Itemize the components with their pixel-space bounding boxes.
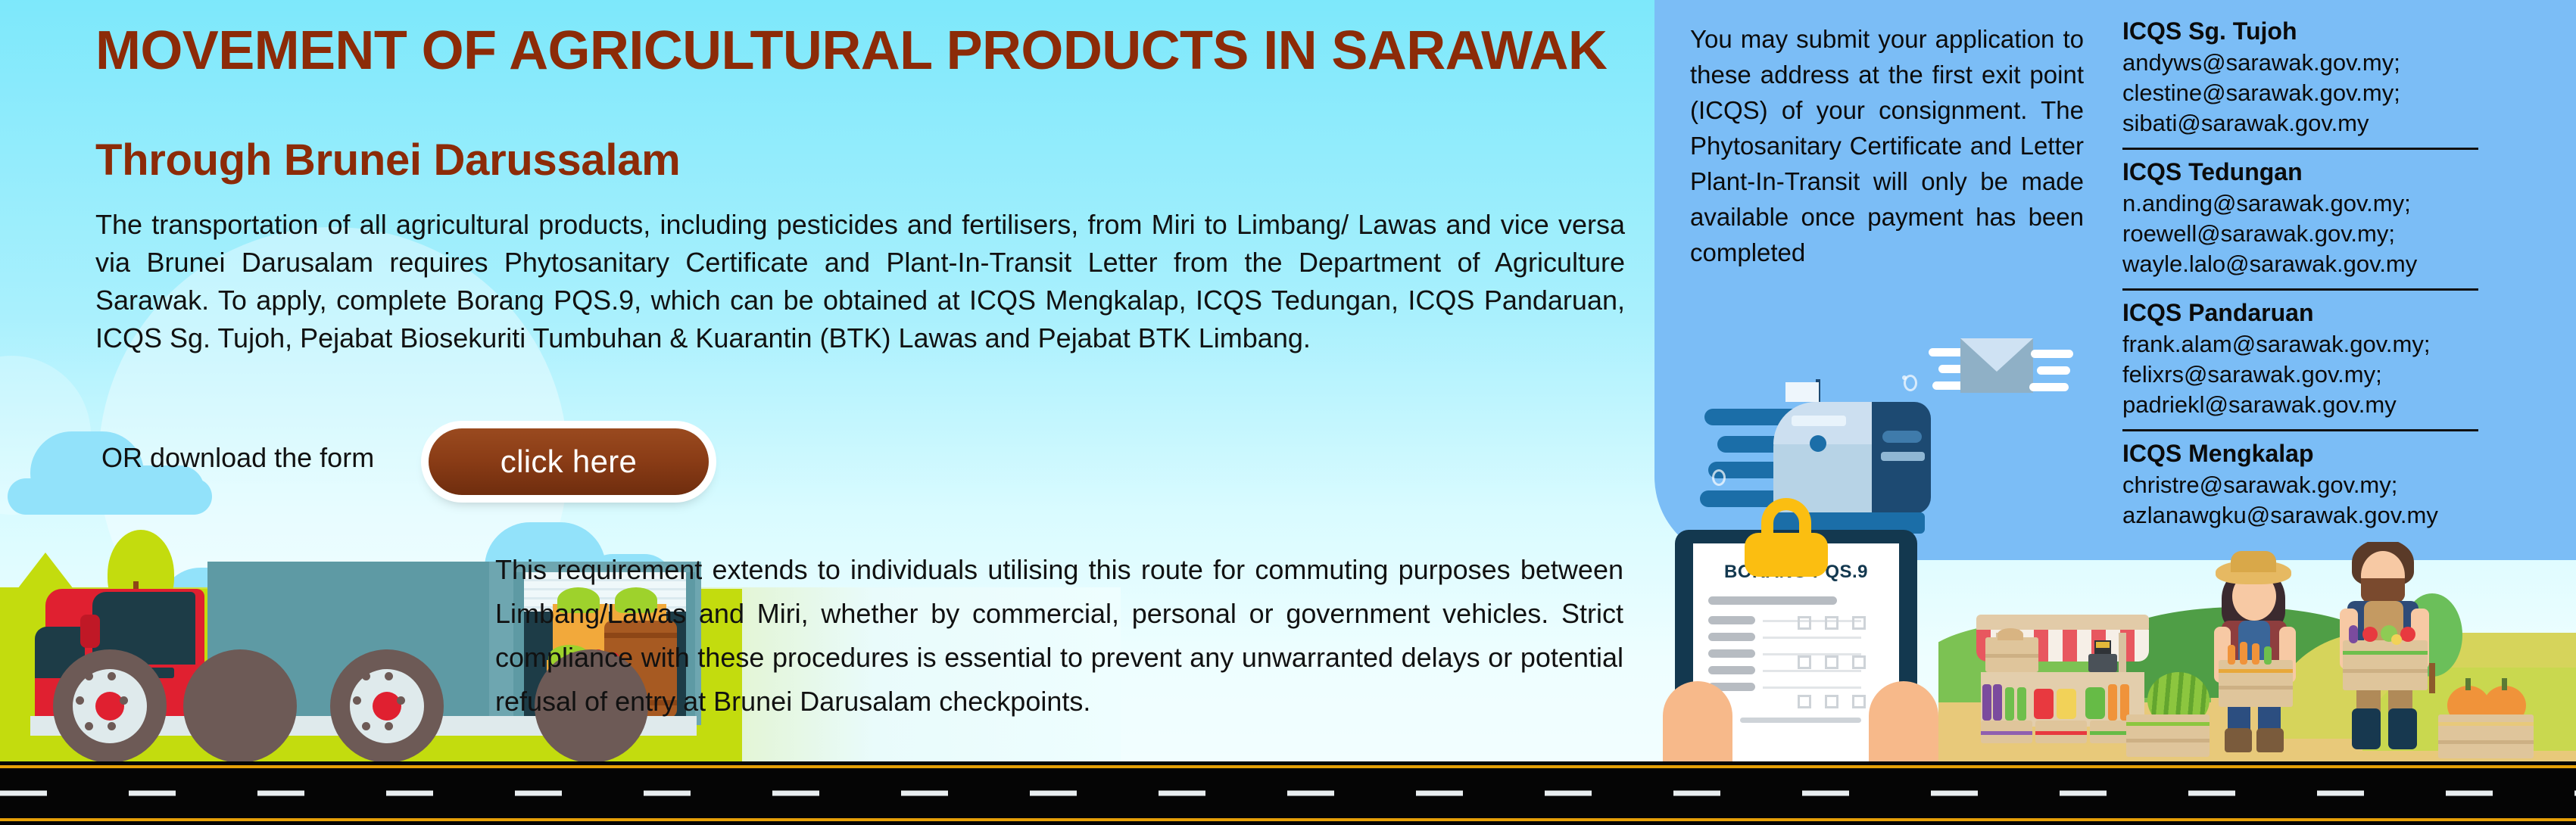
contact-title: ICQS Sg. Tujoh (2122, 15, 2478, 48)
submission-note: You may submit your application to these… (1690, 21, 2084, 270)
contact-email[interactable]: clestine@sarawak.gov.my; (2122, 78, 2478, 108)
page-subtitle: Through Brunei Darussalam (95, 135, 680, 185)
contact-block-pandaruan: ICQS Pandaruan frank.alam@sarawak.gov.my… (2122, 288, 2478, 425)
contact-email[interactable]: wayle.lalo@sarawak.gov.my (2122, 249, 2478, 279)
contact-email[interactable]: christre@sarawak.gov.my; (2122, 470, 2478, 500)
decor-circle-small (0, 356, 91, 515)
click-here-button[interactable]: click here (429, 428, 709, 495)
contact-email[interactable]: andyws@sarawak.gov.my; (2122, 48, 2478, 78)
main-paragraph: The transportation of all agricultural p… (95, 206, 1625, 357)
contact-email[interactable]: n.anding@sarawak.gov.my; (2122, 188, 2478, 219)
contact-email[interactable]: padriekl@sarawak.gov.my (2122, 390, 2478, 420)
contact-block-sg-tujoh: ICQS Sg. Tujoh andyws@sarawak.gov.my; cl… (2122, 15, 2478, 143)
decor-ring-2 (1712, 469, 1726, 486)
contact-email[interactable]: azlanawgku@sarawak.gov.my (2122, 500, 2478, 531)
bottom-paragraph: This requirement extends to individuals … (495, 548, 1623, 724)
contact-title: ICQS Pandaruan (2122, 297, 2478, 329)
contact-title: ICQS Mengkalap (2122, 437, 2478, 470)
road-strip (0, 761, 2576, 825)
contact-block-mengkalap: ICQS Mengkalap christre@sarawak.gov.my; … (2122, 429, 2478, 535)
market-stall-icon (1938, 542, 2576, 761)
farmer-female (2205, 548, 2303, 752)
road-dashes (0, 791, 2576, 796)
contact-email[interactable]: felixrs@sarawak.gov.my; (2122, 360, 2478, 390)
contact-email[interactable]: frank.alam@sarawak.gov.my; (2122, 329, 2478, 360)
envelope-speedline-4 (2031, 350, 2073, 358)
farmer-male (2332, 542, 2438, 754)
contact-email[interactable]: roewell@sarawak.gov.my; (2122, 219, 2478, 249)
contact-block-tedungan: ICQS Tedungan n.anding@sarawak.gov.my; r… (2122, 148, 2478, 284)
envelope-speedline-6 (2029, 383, 2069, 391)
infographic-banner: MOVEMENT OF AGRICULTURAL PRODUCTS IN SAR… (0, 0, 2576, 825)
contact-email[interactable]: sibati@sarawak.gov.my (2122, 108, 2478, 139)
padlock-icon (1745, 512, 1828, 577)
envelope-speedline-5 (2037, 366, 2070, 375)
contact-title: ICQS Tedungan (2122, 156, 2478, 188)
download-label: OR download the form (101, 442, 374, 474)
page-title: MOVEMENT OF AGRICULTURAL PRODUCTS IN SAR… (95, 20, 1607, 82)
contacts-list: ICQS Sg. Tujoh andyws@sarawak.gov.my; cl… (2122, 15, 2478, 535)
